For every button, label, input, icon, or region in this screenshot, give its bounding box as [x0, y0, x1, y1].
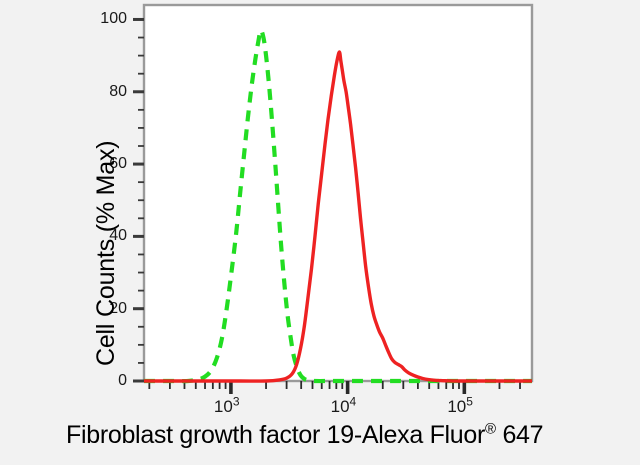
- x-axis-tick-exponent: 4: [350, 394, 357, 408]
- y-axis-ticks: [133, 19, 144, 381]
- y-axis-tick-label: 0: [87, 372, 127, 390]
- x-axis-tick-exponent: 5: [466, 394, 473, 408]
- y-axis-tick-label: 80: [87, 83, 127, 101]
- x-axis-title: Fibroblast growth factor 19-Alexa Fluor®…: [66, 421, 543, 450]
- flow-cytometry-figure: 020406080100 103104105 Cell Counts (% Ma…: [0, 0, 640, 465]
- x-axis-tick-mantissa: 10: [447, 397, 466, 416]
- x-axis-tick-exponent: 3: [233, 394, 240, 408]
- y-axis-title: Cell Counts (% Max): [92, 141, 121, 366]
- x-axis-tick-label: 103: [214, 397, 240, 417]
- registered-trademark-icon: ®: [485, 421, 496, 438]
- x-axis-tick-mantissa: 10: [331, 397, 350, 416]
- x-axis-tick-label: 104: [331, 397, 357, 417]
- x-axis-tick-label: 105: [447, 397, 473, 417]
- y-axis-tick-label: 100: [87, 10, 127, 28]
- x-axis-tick-mantissa: 10: [214, 397, 233, 416]
- x-axis-title-tail: 647: [496, 421, 543, 449]
- x-axis-title-main: Fibroblast growth factor 19-Alexa Fluor: [66, 421, 485, 449]
